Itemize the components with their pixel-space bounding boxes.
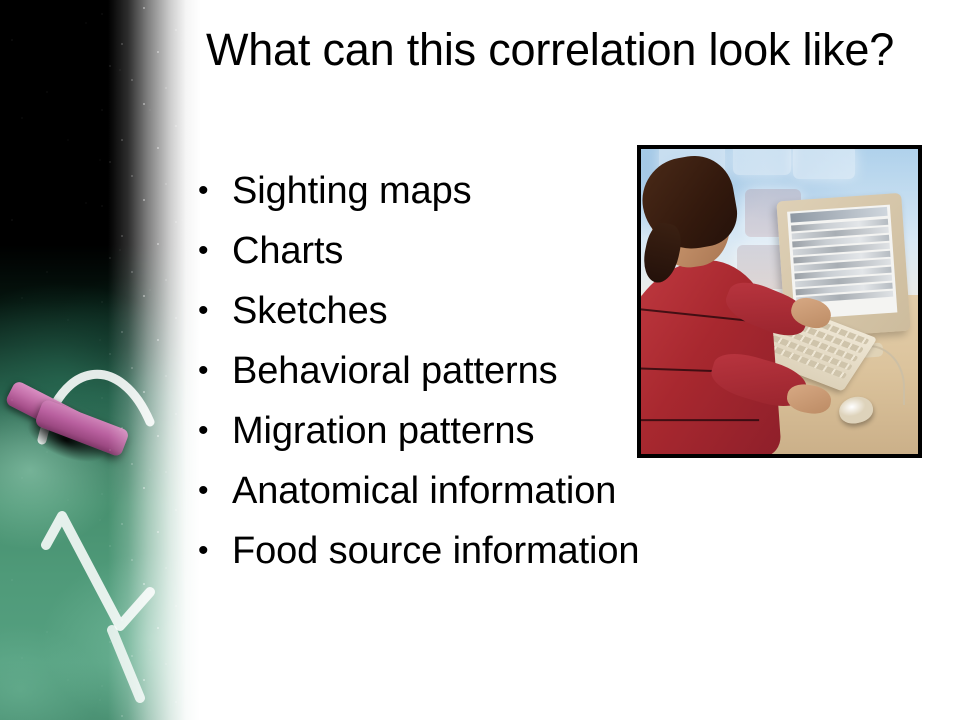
woman-at-computer-photo	[641, 149, 918, 454]
list-item-label: Behavioral patterns	[232, 346, 558, 396]
slide: What can this correlation look like? • S…	[0, 0, 960, 720]
bullet-icon: •	[196, 166, 232, 216]
list-item: • Food source information	[196, 526, 716, 586]
bullet-icon: •	[196, 526, 232, 576]
list-item-label: Sighting maps	[232, 166, 472, 216]
slide-title: What can this correlation look like?	[150, 22, 950, 77]
bullet-icon: •	[196, 406, 232, 456]
backdrop-panel	[793, 149, 855, 179]
bullet-icon: •	[196, 466, 232, 516]
list-item-label: Sketches	[232, 286, 388, 336]
list-item-label: Charts	[232, 226, 343, 276]
list-item-label: Migration patterns	[232, 406, 534, 456]
backdrop-panel	[733, 149, 791, 175]
photo-frame	[637, 145, 922, 458]
bullet-icon: •	[196, 286, 232, 336]
list-item: • Anatomical information	[196, 466, 716, 526]
chalkboard-decoration	[0, 0, 200, 720]
bullet-icon: •	[196, 346, 232, 396]
bullet-icon: •	[196, 226, 232, 276]
chalkboard-speckle-edge	[96, 0, 200, 720]
list-item-label: Anatomical information	[232, 466, 616, 516]
list-item-label: Food source information	[232, 526, 639, 576]
garment-seam	[641, 419, 759, 421]
